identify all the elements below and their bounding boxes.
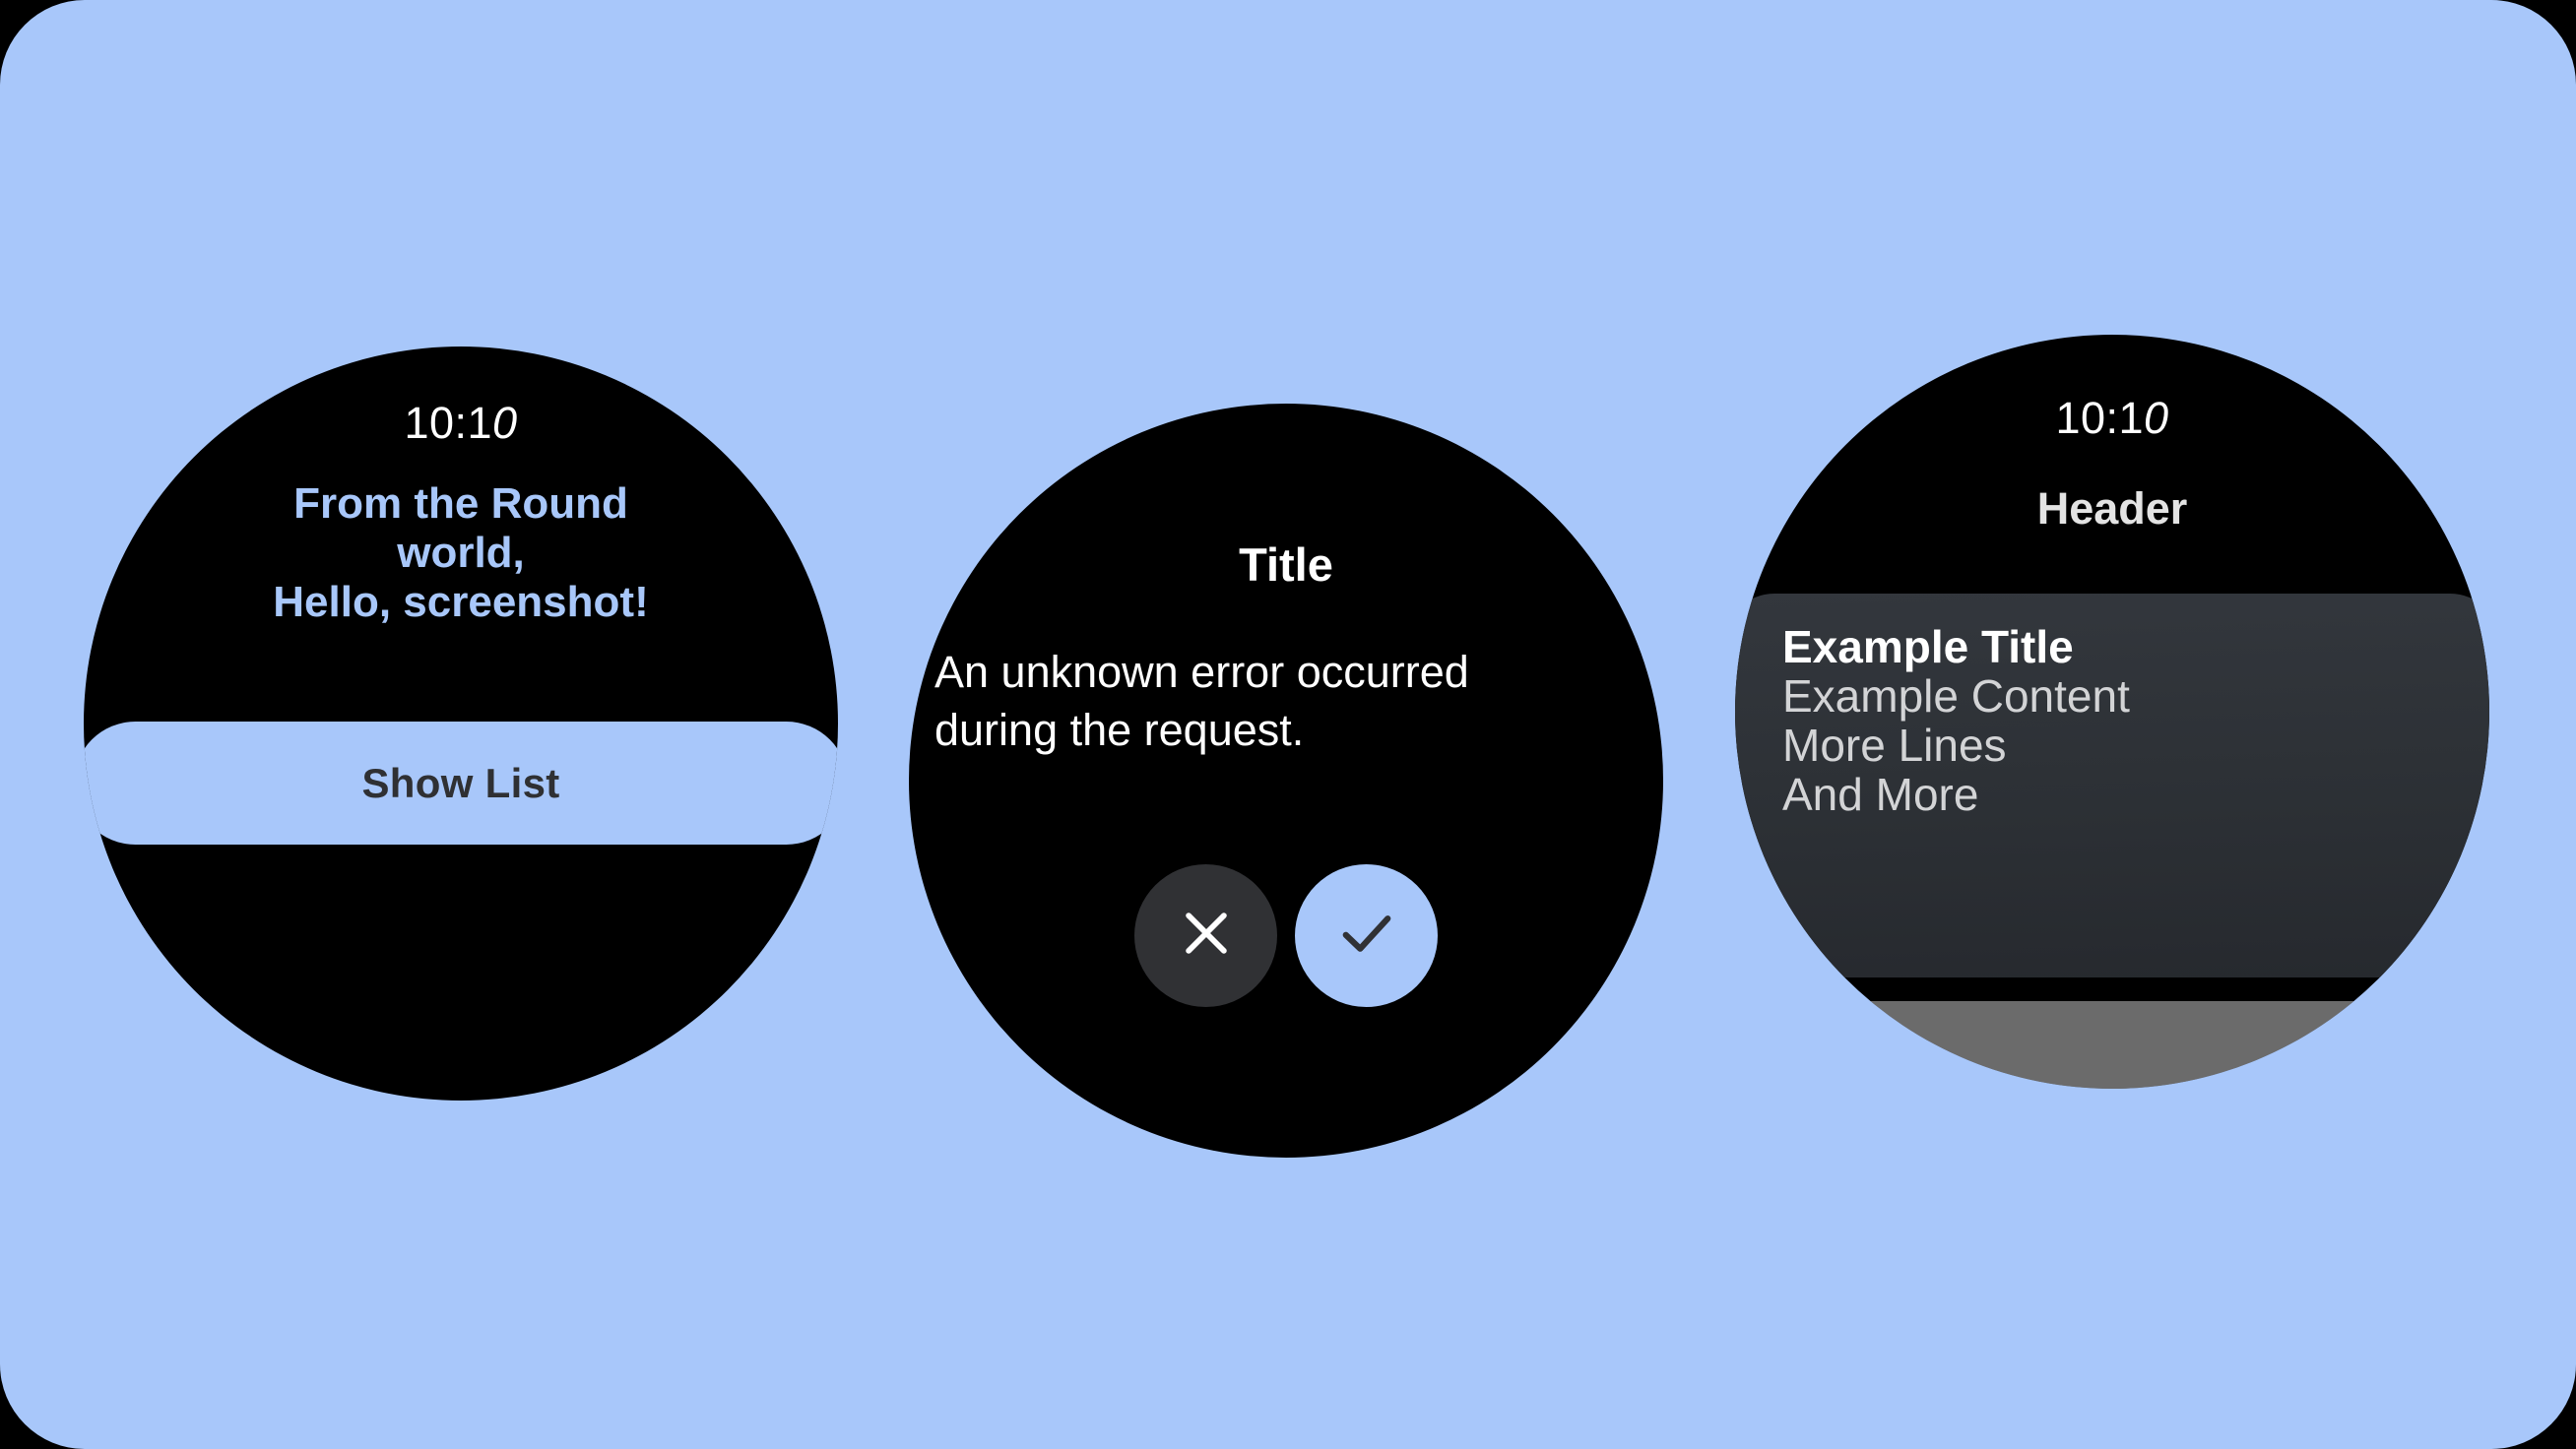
screenshot-frame: 10:10 From the Round world, Hello, scree… <box>0 0 2576 1449</box>
list-header: Header <box>1735 483 2489 535</box>
greeting-line-2: world, <box>133 529 789 578</box>
status-time-prefix: 10:1 <box>2055 393 2144 443</box>
status-time-italic-digit: 0 <box>2144 393 2169 443</box>
watch-scroll-list: 10:10 Header Example Title Example Conte… <box>1735 335 2489 1089</box>
show-list-button[interactable]: Show List <box>84 722 838 845</box>
confirm-button[interactable] <box>1295 864 1438 1007</box>
card-line-2: More Lines <box>1782 722 2481 771</box>
card-line-1: Example Content <box>1782 672 2481 722</box>
show-list-button-label: Show List <box>361 760 559 807</box>
list-card-content: Example Title Example Content More Lines… <box>1782 621 2481 819</box>
dialog-message-line-1: An unknown error occurred <box>934 643 1638 701</box>
list-card[interactable]: Example Title Example Content More Lines… <box>1735 594 2489 977</box>
dialog-message: An unknown error occurred during the req… <box>934 643 1638 760</box>
greeting-line-1: From the Round <box>133 479 789 529</box>
greeting-line-3: Hello, screenshot! <box>133 578 789 627</box>
dialog-message-line-2: during the request. <box>934 701 1638 759</box>
greeting-text: From the Round world, Hello, screenshot! <box>133 479 789 627</box>
watch-round-greeting: 10:10 From the Round world, Hello, scree… <box>84 346 838 1101</box>
status-time: 10:10 <box>84 401 838 445</box>
card-line-3: And More <box>1782 771 2481 820</box>
check-icon <box>1332 899 1401 973</box>
dialog-actions <box>909 864 1663 1007</box>
dismiss-button[interactable] <box>1134 864 1277 1007</box>
close-x-icon <box>1174 901 1239 971</box>
watch-alert-dialog: Title An unknown error occurred during t… <box>909 404 1663 1158</box>
list-bottom-scrim <box>1735 1001 2489 1089</box>
status-time: 10:10 <box>1735 396 2489 440</box>
dialog-title: Title <box>909 537 1663 592</box>
card-title: Example Title <box>1782 621 2481 672</box>
status-time-italic-digit: 0 <box>492 398 518 448</box>
status-time-prefix: 10:1 <box>404 398 492 448</box>
